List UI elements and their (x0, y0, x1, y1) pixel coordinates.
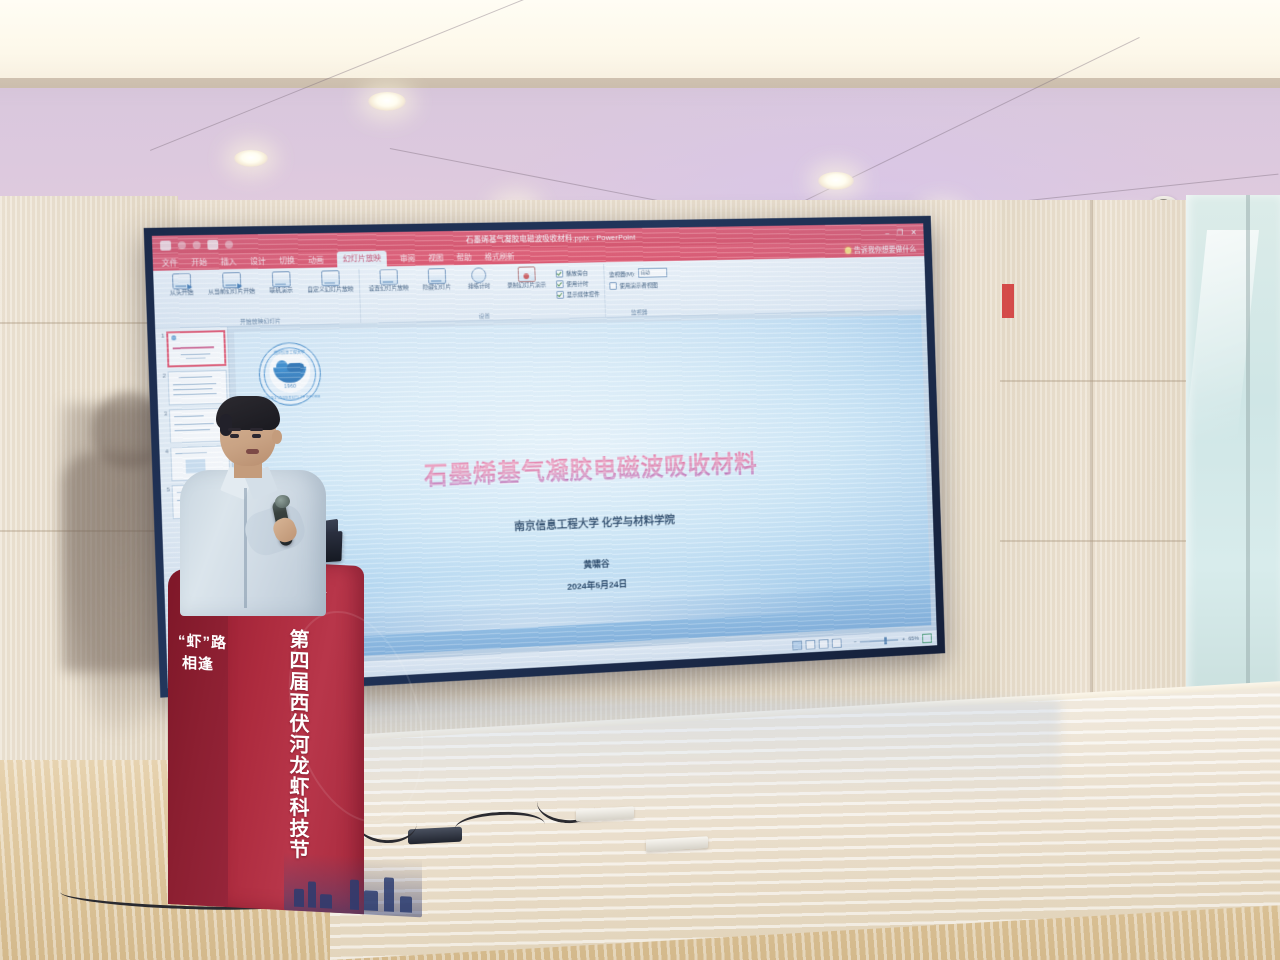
btn-record-slideshow-label: 录制幻灯片演示 (507, 283, 546, 290)
btn-from-beginning-label: 从头开始 (170, 290, 194, 297)
tell-me-search[interactable]: 告诉我你想要做什么 (845, 244, 917, 256)
btn-rehearse-timings[interactable]: 排练计时 (461, 267, 497, 291)
btn-from-current-label: 从当前幻灯片开始 (208, 289, 255, 297)
btn-present-online-label: 联机演示 (270, 288, 293, 295)
slideshow-options[interactable]: 播放旁白 使用计时 显示媒体控件 (556, 265, 600, 299)
podium-side-text: “虾”路相逢 (178, 631, 218, 677)
monitor-label: 监视器(M): (609, 269, 635, 278)
play-from-start-icon (172, 273, 191, 289)
btn-present-online[interactable]: 联机演示 (262, 271, 300, 295)
speaker-mouth (246, 449, 259, 454)
speaker-brow-left (228, 428, 241, 431)
tab-file[interactable]: 文件 (162, 257, 178, 268)
present-online-icon (271, 271, 290, 287)
logo-year: 1960 (260, 383, 320, 391)
podium-bottom-artwork (284, 852, 422, 917)
thumbnail-number: 4 (161, 447, 168, 455)
custom-show-icon (321, 270, 340, 286)
ceiling-downlight (234, 150, 268, 167)
ceiling-downlight (818, 172, 854, 190)
tab-format-painter[interactable]: 格式刷新 (484, 251, 514, 262)
tell-me-label: 告诉我你想要做什么 (854, 244, 917, 255)
hide-slide-icon (427, 268, 445, 284)
chk-show-media-controls[interactable]: 显示媒体控件 (556, 289, 599, 299)
tab-transitions[interactable]: 切换 (279, 255, 295, 266)
speaker-ear (272, 430, 282, 444)
record-slideshow-icon (517, 266, 535, 282)
ribbon-group-monitors: 监视器(M): 自动 使用演示者视图 监视器 (604, 263, 673, 317)
speaker-shirt-placket (244, 488, 247, 608)
btn-custom-show[interactable]: 自定义幻灯片放映 (306, 270, 355, 294)
slide-sorter-icon[interactable] (805, 640, 815, 650)
thumbnail-number: 5 (163, 485, 170, 493)
chk-play-narrations-label: 播放旁白 (566, 268, 588, 277)
tab-help[interactable]: 帮助 (456, 252, 471, 263)
checkbox-icon[interactable] (556, 280, 564, 288)
thumb-logo-icon (171, 335, 176, 340)
chk-play-narrations[interactable]: 播放旁白 (556, 268, 599, 278)
fit-to-window-icon[interactable] (922, 633, 932, 643)
tab-insert[interactable]: 插入 (221, 256, 237, 267)
btn-record-slideshow[interactable]: 录制幻灯片演示 (503, 266, 550, 290)
thumbnail-preview (166, 330, 226, 367)
zoom-out-icon[interactable]: − (854, 639, 857, 645)
btn-from-beginning[interactable]: 从头开始 (162, 273, 200, 297)
checkbox-icon[interactable] (556, 290, 564, 298)
wall-seam-horizontal (1000, 540, 1196, 542)
speaker-brow-right (250, 428, 263, 431)
btn-set-up-show[interactable]: 设置幻灯片放映 (364, 269, 412, 293)
ribbon-group-start-show: 从头开始 从当前幻灯片开始 联机演示 自定义幻灯片放映 (157, 269, 361, 328)
chk-presenter-view[interactable]: 使用演示者视图 (609, 280, 657, 290)
tab-home[interactable]: 开始 (191, 256, 207, 267)
btn-custom-show-label: 自定义幻灯片放映 (307, 287, 353, 295)
wall-red-sign (1002, 284, 1014, 318)
tab-design[interactable]: 设计 (250, 255, 266, 266)
podium-event-title: 第四届西伏河龙虾科技节 (280, 618, 310, 870)
conference-hall-photo: 石墨烯基气凝胶电磁波吸收材料.pptx - PowerPoint – ❐ ✕ 文… (0, 0, 1280, 960)
checkbox-icon[interactable] (609, 282, 617, 290)
speaker-eye-right (252, 434, 261, 438)
logo-wave-mark (273, 366, 306, 383)
floor-reflection (360, 700, 1060, 810)
chk-show-media-controls-label: 显示媒体控件 (566, 289, 599, 298)
tab-view[interactable]: 视图 (428, 252, 443, 263)
speaker-hair (216, 396, 280, 430)
play-from-current-icon (222, 272, 241, 288)
btn-from-current[interactable]: 从当前幻灯片开始 (206, 272, 256, 297)
chk-presenter-view-label: 使用演示者视图 (619, 280, 657, 289)
cable-adapter-box (408, 827, 462, 845)
podium-side-panel: “虾”路相逢 (168, 568, 228, 907)
monitor-selector[interactable]: 监视器(M): 自动 (609, 268, 667, 279)
thumbnail-number: 1 (157, 332, 164, 340)
ribbon-group-setup: 设置幻灯片放映 隐藏幻灯片 排练计时 录制幻灯片演示 (359, 264, 606, 323)
thumbnail-slide-1[interactable]: 1 (157, 330, 226, 368)
zoom-slider[interactable] (860, 639, 898, 643)
group-label-monitors: 监视器 (610, 307, 668, 317)
logo-top-text: 南京信息工程大学 (259, 349, 319, 357)
tab-review[interactable]: 审阅 (400, 253, 416, 264)
ceiling-downlight (368, 92, 406, 111)
btn-set-up-show-label: 设置幻灯片放映 (369, 286, 409, 293)
checkbox-icon[interactable] (556, 269, 564, 277)
chk-use-timings[interactable]: 使用计时 (556, 279, 599, 289)
speaker-eye-left (230, 434, 239, 438)
zoom-in-icon[interactable]: + (902, 637, 905, 643)
zoom-level[interactable]: 65% (908, 636, 919, 642)
normal-view-icon[interactable] (792, 641, 802, 651)
speaker-presenter (176, 396, 346, 616)
btn-rehearse-timings-label: 排练计时 (468, 284, 491, 291)
btn-hide-slide[interactable]: 隐藏幻灯片 (418, 268, 455, 292)
tab-slideshow[interactable]: 幻灯片放映 (337, 251, 387, 268)
chk-use-timings-label: 使用计时 (566, 279, 588, 288)
thumbnail-number: 3 (160, 409, 167, 417)
btn-hide-slide-label: 隐藏幻灯片 (423, 285, 451, 292)
thumbnail-number: 2 (159, 372, 166, 380)
lightbulb-icon (845, 247, 851, 254)
monitor-dropdown[interactable]: 自动 (638, 268, 667, 278)
wall-seam-horizontal (1000, 380, 1196, 382)
setup-show-icon (379, 269, 398, 285)
slideshow-view-icon[interactable] (832, 638, 842, 648)
reading-view-icon[interactable] (819, 639, 829, 649)
tab-animations[interactable]: 动画 (308, 254, 324, 265)
rehearse-timings-icon (471, 267, 486, 283)
